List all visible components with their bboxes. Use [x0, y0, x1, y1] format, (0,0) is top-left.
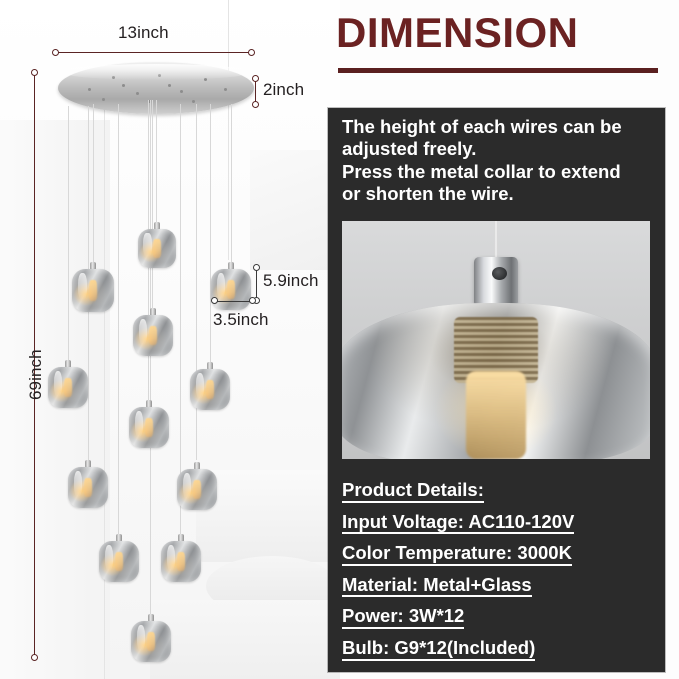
instruction-text: The height of each wires can be adjusted… [342, 116, 652, 206]
pendant-shade [131, 621, 171, 662]
dimension-label-canopy-width: 13inch [118, 23, 169, 43]
dimension-label-shade-width: 3.5inch [213, 310, 269, 330]
pendant-light [68, 460, 108, 508]
suspension-cable [118, 104, 119, 534]
dimension-endpoint [253, 264, 260, 271]
closeup-cable [494, 221, 498, 261]
closeup-bulb [466, 371, 526, 459]
metal-collar-closeup-photo [342, 221, 650, 459]
pendant-shade [211, 269, 251, 310]
pendant-shade [72, 269, 114, 312]
product-details-list: Product Details: Input Voltage: AC110-12… [342, 480, 652, 670]
pendant-shade [129, 407, 169, 448]
dimension-label-shade-height: 5.9inch [263, 271, 319, 291]
pendant-shade [190, 369, 230, 410]
suspension-cable [231, 104, 232, 262]
pendant-light [131, 614, 171, 662]
closeup-metal-collar [474, 257, 518, 307]
dimension-endpoint [211, 297, 218, 304]
pendant-light [48, 360, 88, 408]
chandelier-illustration [0, 0, 340, 679]
dimension-endpoint [31, 69, 38, 76]
pendant-shade [99, 541, 139, 582]
instruction-line-2: adjusted freely. [342, 138, 652, 160]
instruction-line-3: Press the metal collar to extend [342, 161, 652, 183]
pendant-light [177, 462, 217, 510]
pendant-light [99, 534, 139, 582]
detail-power: Power: 3W*12 [342, 606, 464, 629]
page-title: DIMENSION [336, 12, 636, 54]
dimension-label-total-drop: 69inch [26, 349, 46, 400]
infographic-canvas: 13inch 2inch 69inch 5.9inch 3.5inch DIME… [0, 0, 679, 679]
detail-color-temperature: Color Temperature: 3000K [342, 543, 572, 566]
pendant-shade [161, 541, 201, 582]
dimension-line-canopy-width [55, 52, 251, 53]
title-underline-rule [338, 68, 658, 73]
suspension-cable [93, 104, 94, 262]
collar-screw-icon [492, 267, 507, 280]
detail-material: Material: Metal+Glass [342, 575, 532, 598]
detail-input-voltage: Input Voltage: AC110-120V [342, 512, 574, 535]
pendant-light [138, 222, 176, 268]
suspension-cable [156, 100, 157, 222]
info-panel: The height of each wires can be adjusted… [328, 108, 665, 672]
suspension-cable [152, 100, 153, 308]
pendant-light [129, 400, 169, 448]
dimension-endpoint [252, 75, 259, 82]
dimension-line-shade-width [215, 301, 253, 302]
pendant-shade [177, 469, 217, 510]
instruction-line-4: or shorten the wire. [342, 183, 652, 205]
dimension-endpoint [252, 101, 259, 108]
pendant-light [190, 362, 230, 410]
suspension-cable [150, 100, 151, 614]
dimension-endpoint [31, 654, 38, 661]
dimension-label-canopy-height: 2inch [263, 80, 304, 100]
suspension-cable [210, 104, 211, 362]
pendant-light [72, 262, 114, 312]
dimension-endpoint [248, 49, 255, 56]
detail-heading: Product Details: [342, 480, 484, 503]
instruction-line-1: The height of each wires can be [342, 116, 652, 138]
pendant-shade [48, 367, 88, 408]
pendant-light [133, 308, 173, 356]
dimension-endpoint [249, 297, 256, 304]
pendant-shade [68, 467, 108, 508]
dimension-endpoint [52, 49, 59, 56]
pendant-shade [138, 229, 176, 268]
suspension-cable [68, 106, 69, 360]
pendant-shade [133, 315, 173, 356]
pendant-light [161, 534, 201, 582]
detail-bulb: Bulb: G9*12(Included) [342, 638, 535, 661]
